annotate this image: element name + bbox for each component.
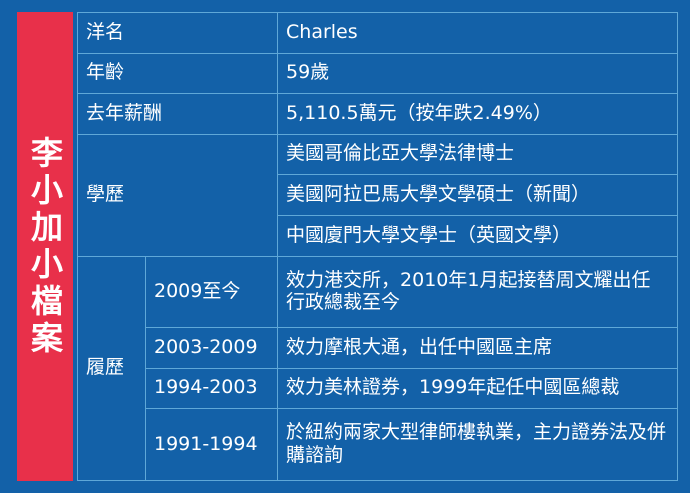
- banner-title: 李小加小檔案: [29, 136, 61, 358]
- title-banner: 李小加小檔案: [17, 12, 73, 481]
- row-value-last-year-pay: 5,110.5萬元（按年跌2.49%）: [278, 94, 678, 135]
- infographic-page: 李小加小檔案 洋名 Charles 年齡 59歲 去年薪酬 5,110.5萬元（…: [0, 0, 690, 493]
- row-label-last-year-pay: 去年薪酬: [78, 94, 278, 135]
- experience-period-1: 2009至今: [146, 256, 278, 328]
- table-row-english-name: 洋名 Charles: [78, 13, 678, 54]
- row-label-english-name: 洋名: [78, 13, 278, 54]
- experience-period-3: 1994-2003: [146, 368, 278, 409]
- profile-table: 洋名 Charles 年齡 59歲 去年薪酬 5,110.5萬元（按年跌2.49…: [77, 12, 678, 481]
- experience-period-4: 1991-1994: [146, 409, 278, 481]
- experience-detail-2: 效力摩根大通，出任中國區主席: [278, 328, 678, 369]
- row-label-experience: 履歷: [78, 256, 146, 480]
- table-row-last-year-pay: 去年薪酬 5,110.5萬元（按年跌2.49%）: [78, 94, 678, 135]
- table-row-experience-4: 1991-1994 於紐約兩家大型律師樓執業，主力證券法及併購諮詢: [78, 409, 678, 481]
- education-item-2: 美國阿拉巴馬大學文學碩士（新聞）: [278, 175, 678, 216]
- education-item-3: 中國廈門大學文學士（英國文學）: [278, 216, 678, 257]
- experience-detail-4: 於紐約兩家大型律師樓執業，主力證券法及併購諮詢: [278, 409, 678, 481]
- table-row-age: 年齡 59歲: [78, 53, 678, 94]
- row-value-age: 59歲: [278, 53, 678, 94]
- experience-period-2: 2003-2009: [146, 328, 278, 369]
- table-row-education-1: 學歷 美國哥倫比亞大學法律博士: [78, 134, 678, 175]
- row-label-education: 學歷: [78, 134, 278, 256]
- table-row-experience-2: 2003-2009 效力摩根大通，出任中國區主席: [78, 328, 678, 369]
- experience-detail-1: 效力港交所，2010年1月起接替周文耀出任行政總裁至今: [278, 256, 678, 328]
- row-label-age: 年齡: [78, 53, 278, 94]
- education-item-1: 美國哥倫比亞大學法律博士: [278, 134, 678, 175]
- experience-detail-3: 效力美林證券，1999年起任中國區總裁: [278, 368, 678, 409]
- row-value-english-name: Charles: [278, 13, 678, 54]
- table-row-experience-3: 1994-2003 效力美林證券，1999年起任中國區總裁: [78, 368, 678, 409]
- table-row-experience-1: 履歷 2009至今 效力港交所，2010年1月起接替周文耀出任行政總裁至今: [78, 256, 678, 328]
